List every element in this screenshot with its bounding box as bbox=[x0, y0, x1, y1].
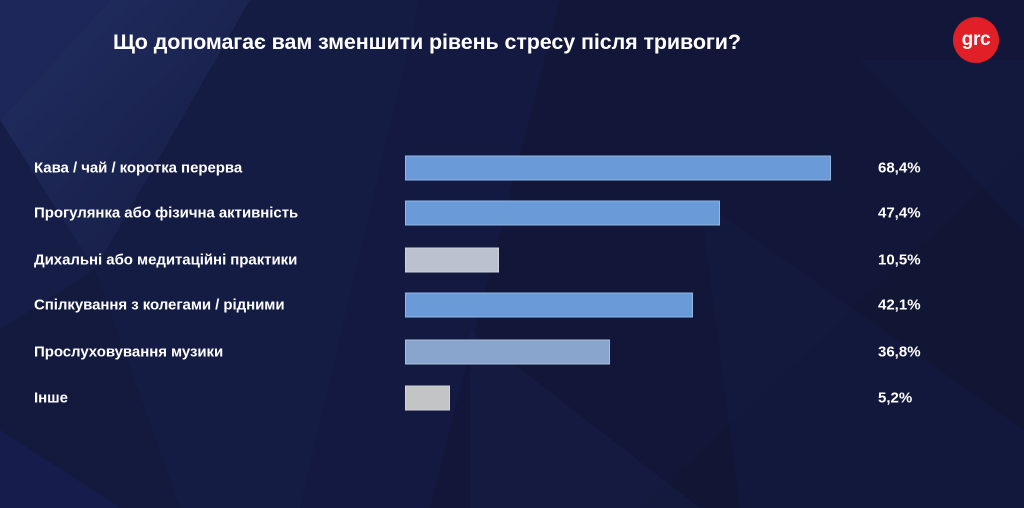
bar-track bbox=[405, 293, 693, 318]
bar-fill bbox=[405, 386, 450, 411]
bar-category-label: Спілкування з колегами / рідними bbox=[34, 297, 285, 314]
bar-value-label: 42,1% bbox=[878, 297, 921, 314]
bar-value-label: 68,4% bbox=[878, 160, 921, 177]
bar-track bbox=[405, 386, 450, 411]
bar-category-label: Інше bbox=[34, 390, 68, 407]
bar-track bbox=[405, 340, 610, 365]
bar-row: Інше5,2% bbox=[0, 385, 1024, 411]
bar-value-label: 10,5% bbox=[878, 252, 921, 269]
bar-category-label: Кава / чай / коротка перерва bbox=[34, 160, 242, 177]
bar-category-label: Прослуховування музики bbox=[34, 344, 223, 361]
bar-fill bbox=[405, 201, 720, 226]
grc-logo-text: grc bbox=[962, 30, 991, 49]
bar-value-label: 5,2% bbox=[878, 390, 912, 407]
grc-logo: grc bbox=[953, 17, 999, 63]
bar-row: Прослуховування музики36,8% bbox=[0, 339, 1024, 365]
bar-fill bbox=[405, 293, 693, 318]
page-title: Що допомагає вам зменшити рівень стресу … bbox=[113, 30, 741, 55]
bar-track bbox=[405, 156, 831, 181]
bar-row: Дихальні або медитаційні практики10,5% bbox=[0, 247, 1024, 273]
bar-fill bbox=[405, 248, 499, 273]
chart-header: Що допомагає вам зменшити рівень стресу … bbox=[0, 0, 1024, 88]
bar-fill bbox=[405, 156, 831, 181]
bar-category-label: Прогулянка або фізична активність bbox=[34, 205, 298, 222]
bar-value-label: 36,8% bbox=[878, 344, 921, 361]
bar-track bbox=[405, 248, 499, 273]
bar-row: Спілкування з колегами / рідними42,1% bbox=[0, 292, 1024, 318]
bar-category-label: Дихальні або медитаційні практики bbox=[34, 252, 297, 269]
bar-row: Кава / чай / коротка перерва68,4% bbox=[0, 155, 1024, 181]
bar-fill bbox=[405, 340, 610, 365]
bar-value-label: 47,4% bbox=[878, 205, 921, 222]
bar-track bbox=[405, 201, 720, 226]
bar-row: Прогулянка або фізична активність47,4% bbox=[0, 200, 1024, 226]
